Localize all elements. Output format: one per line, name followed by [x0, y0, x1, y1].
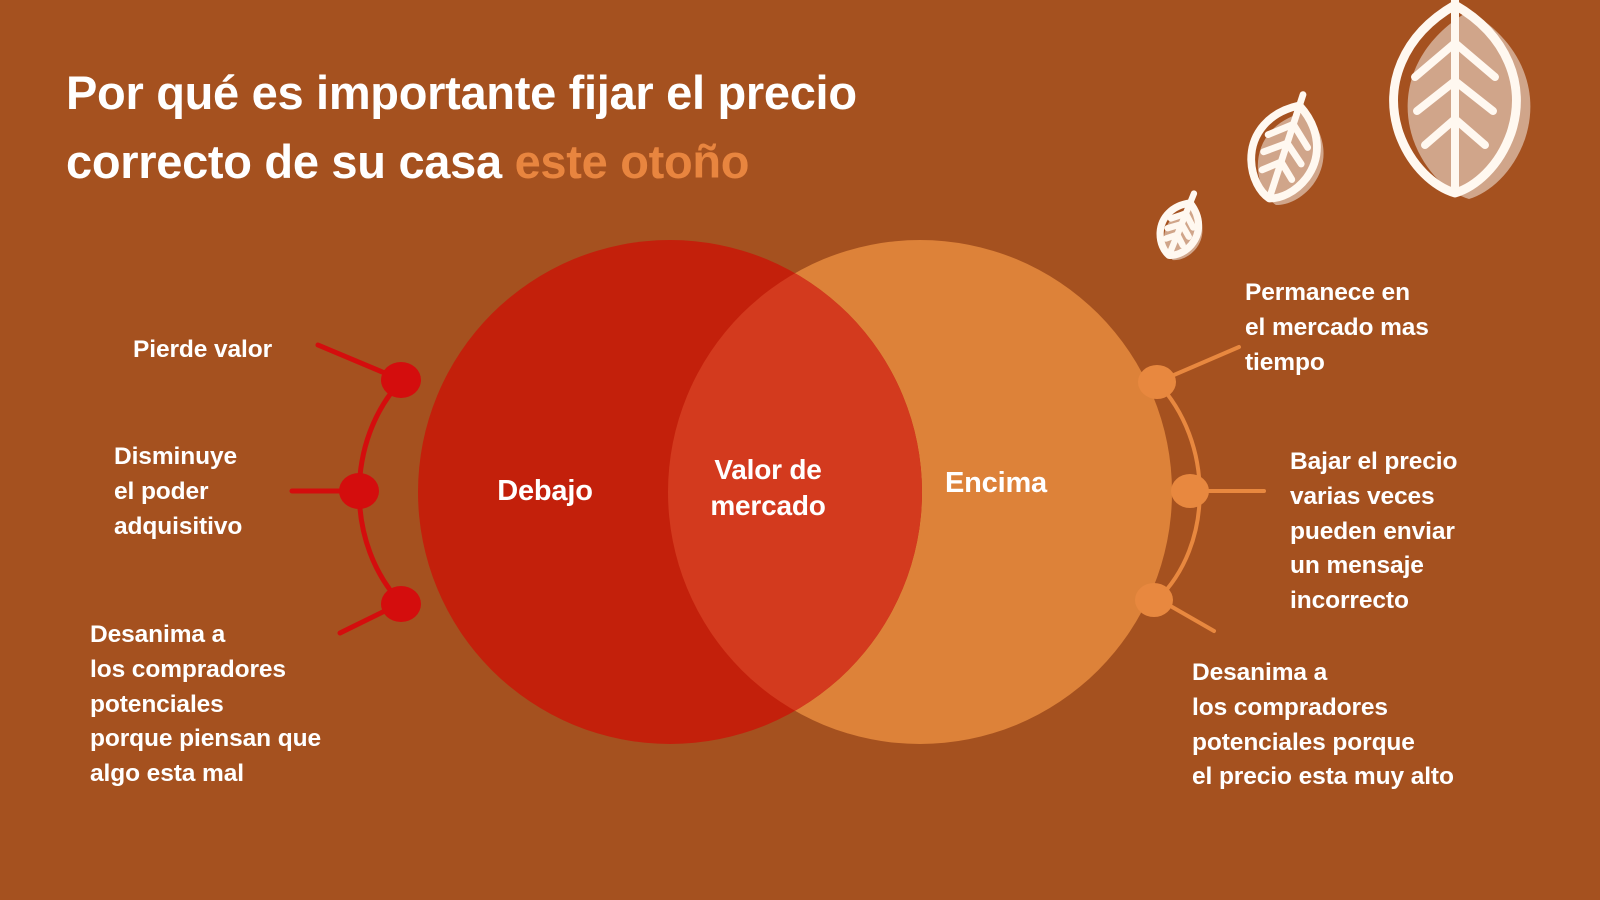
left-dot-0 [381, 362, 421, 398]
right-dot-1 [1171, 474, 1209, 508]
left-label-desanima-compradores: Desanima a los compradores potenciales p… [90, 618, 321, 792]
left-connector-dots [339, 362, 421, 622]
leaf-small-icon [1151, 187, 1216, 267]
right-dot-0 [1138, 365, 1176, 399]
left-dot-1 [339, 473, 379, 509]
venn-label-valor-de-mercado: Valor de mercado [672, 452, 864, 524]
venn-label-encima: Encima [892, 465, 1100, 502]
venn-label-debajo: Debajo [430, 473, 660, 510]
leaf-large-icon [1394, 0, 1531, 199]
left-label-pierde-valor: Pierde valor [133, 333, 272, 368]
left-dot-2 [381, 586, 421, 622]
leaf-medium-icon [1238, 85, 1342, 215]
infographic-canvas: Por qué es importante fijar el precio co… [0, 0, 1600, 900]
right-label-bajar-precio: Bajar el precio varias veces pueden envi… [1290, 445, 1457, 619]
right-label-permanece-mercado: Permanece en el mercado mas tiempo [1245, 276, 1429, 380]
left-label-disminuye-poder-adquisitivo: Disminuye el poder adquisitivo [114, 440, 242, 544]
right-dot-2 [1135, 583, 1173, 617]
right-label-desanima-precio-alto: Desanima a los compradores potenciales p… [1192, 656, 1454, 795]
